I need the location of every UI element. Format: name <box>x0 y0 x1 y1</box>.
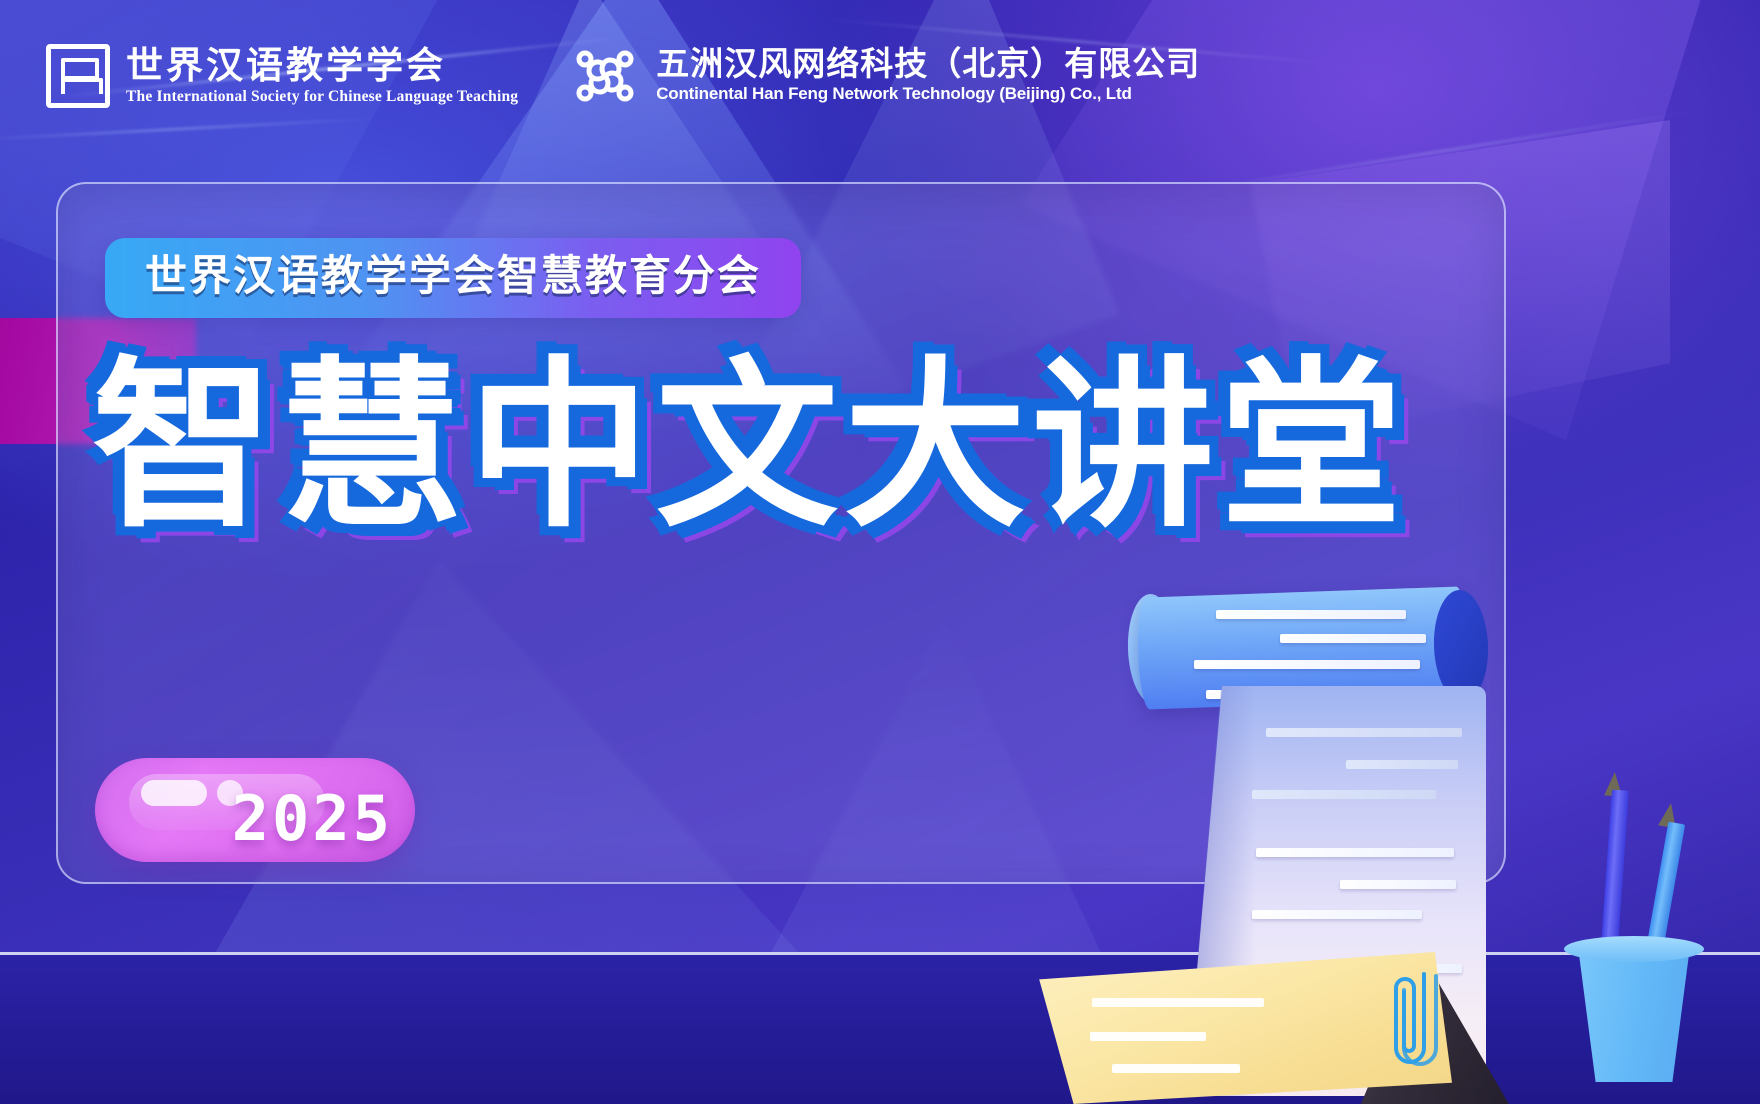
note-line-3 <box>1112 1064 1240 1073</box>
scroll-paper-pencils-illustration <box>1030 560 1760 1104</box>
logo-isclt: 世界汉语教学学会 The International Society for C… <box>46 44 518 108</box>
year-pill-value: 2025 <box>95 782 393 855</box>
poster-canvas: 世界汉语教学学会 The International Society for C… <box>0 0 1760 1104</box>
paperclip-icon <box>1390 964 1446 1082</box>
swirl-cloud-icon <box>570 45 640 107</box>
subtitle-badge-label: 世界汉语教学学会智慧教育分会 <box>145 255 761 297</box>
roll-line-2 <box>1280 634 1426 643</box>
logo-hanfeng-text: 五洲汉风网络科技（北京）有限公司 Continental Han Feng Ne… <box>656 46 1200 105</box>
header-logo-row: 世界汉语教学学会 The International Society for C… <box>46 44 1200 108</box>
page-title-text: 智慧中文大讲堂 <box>92 350 1492 543</box>
page-title: 智慧中文大讲堂 <box>92 350 1492 543</box>
sheet-line-5 <box>1340 880 1456 889</box>
sheet-line-6 <box>1252 910 1422 919</box>
sheet-line-2 <box>1346 760 1458 769</box>
sheet-line-4 <box>1256 848 1454 857</box>
pencil-cup-rim <box>1564 936 1704 962</box>
seal-square-icon <box>46 44 110 108</box>
pencil-cup <box>1570 944 1698 1082</box>
sheet-line-3 <box>1252 790 1436 799</box>
roll-line-1 <box>1216 610 1406 619</box>
subtitle-badge: 世界汉语教学学会智慧教育分会 <box>105 238 801 318</box>
sheet-line-1 <box>1266 728 1462 737</box>
roll-line-3 <box>1194 660 1420 669</box>
yellow-note-sheet <box>1022 952 1452 1104</box>
pencil-blue <box>1600 790 1629 961</box>
logo-hanfeng-cn: 五洲汉风网络科技（北京）有限公司 <box>656 46 1200 83</box>
logo-hanfeng-en: Continental Han Feng Network Technology … <box>656 83 1200 105</box>
year-pill: 2025 <box>95 758 415 862</box>
logo-isclt-text: 世界汉语教学学会 The International Society for C… <box>126 45 518 107</box>
note-line-2 <box>1090 1032 1206 1041</box>
logo-hanfeng: 五洲汉风网络科技（北京）有限公司 Continental Han Feng Ne… <box>570 45 1200 107</box>
logo-isclt-en: The International Society for Chinese La… <box>126 87 518 107</box>
logo-isclt-cn: 世界汉语教学学会 <box>126 45 518 86</box>
note-line-1 <box>1092 998 1264 1007</box>
